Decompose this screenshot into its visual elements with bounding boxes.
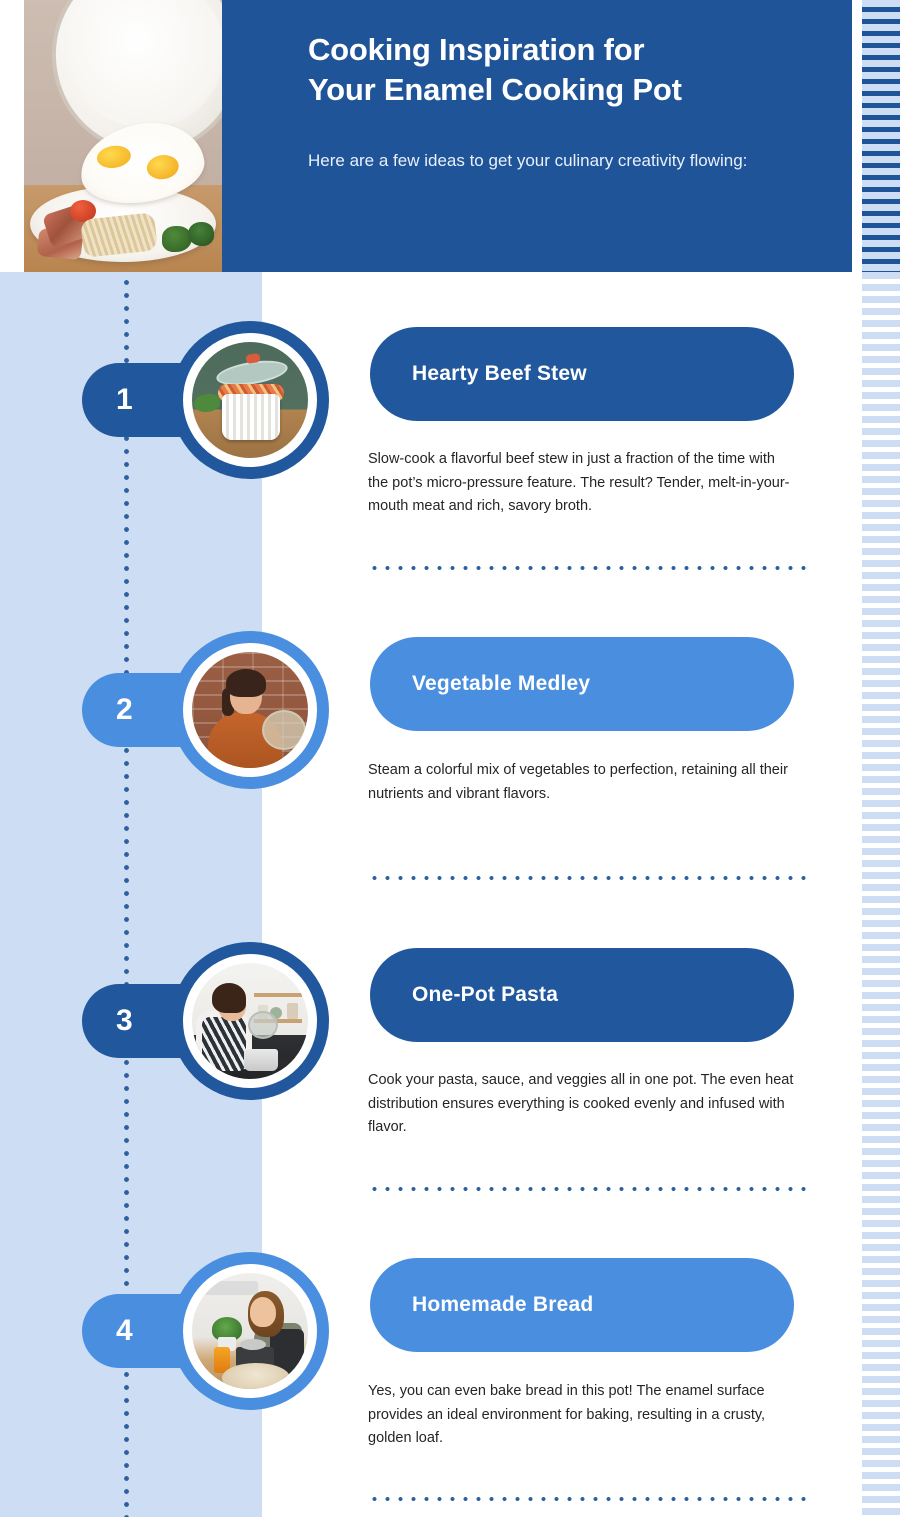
step-body-1: Slow-cook a flavorful beef stew in just …	[368, 448, 796, 519]
stripe-pattern-bottom	[862, 272, 900, 1517]
step-separator-1	[368, 566, 808, 570]
step-separator-4	[368, 1497, 808, 1501]
step-photo-4	[192, 1273, 308, 1389]
step-number-4: 4	[116, 1316, 133, 1346]
step-separator-2	[368, 876, 808, 880]
stripe-pattern-top	[862, 0, 900, 272]
step-number-2: 2	[116, 695, 133, 725]
step-photo-circle-4	[171, 1252, 329, 1410]
photo3-glass-lid	[248, 1011, 278, 1039]
photo4-pan	[240, 1339, 266, 1350]
step-body-2: Steam a colorful mix of vegetables to pe…	[368, 759, 796, 806]
step-title-1: Hearty Beef Stew	[412, 362, 587, 386]
step-photo-1	[192, 342, 308, 458]
step-title-pill-1[interactable]: Hearty Beef Stew	[370, 327, 794, 421]
header-subtitle: Here are a few ideas to get your culinar…	[308, 148, 748, 174]
photo4-plate	[222, 1363, 290, 1389]
step-photo-white-ring-3	[183, 954, 317, 1088]
infographic-page: Cooking Inspiration for Your Enamel Cook…	[0, 0, 900, 1517]
photo4-face	[250, 1297, 276, 1327]
step-title-2: Vegetable Medley	[412, 672, 590, 696]
header-title: Cooking Inspiration for Your Enamel Cook…	[308, 30, 808, 111]
header-photo-pan-interior	[55, 0, 222, 142]
photo3-jar-3	[287, 1003, 298, 1019]
step-photo-white-ring-2	[183, 643, 317, 777]
step-title-3: One-Pot Pasta	[412, 983, 558, 1007]
step-separator-3	[368, 1187, 808, 1191]
photo3-hair	[212, 983, 246, 1013]
photo1-ribbed-pot	[222, 394, 280, 440]
step-photo-white-ring-1	[183, 333, 317, 467]
header-photo-broccoli-2	[188, 222, 214, 246]
step-number-1: 1	[116, 385, 133, 415]
step-title-pill-4[interactable]: Homemade Bread	[370, 1258, 794, 1352]
photo3-frying-pan	[276, 1057, 306, 1069]
step-title-pill-2[interactable]: Vegetable Medley	[370, 637, 794, 731]
header-title-line-1: Cooking Inspiration for	[308, 30, 808, 70]
photo3-pot	[244, 1049, 278, 1071]
header-photo-noodles	[80, 212, 158, 258]
header-photo	[24, 0, 222, 272]
step-body-3: Cook your pasta, sauce, and veggies all …	[368, 1069, 796, 1140]
step-photo-2	[192, 652, 308, 768]
step-photo-circle-1	[171, 321, 329, 479]
step-number-3: 3	[116, 1006, 133, 1036]
step-photo-white-ring-4	[183, 1264, 317, 1398]
step-title-pill-3[interactable]: One-Pot Pasta	[370, 948, 794, 1042]
photo3-striped-apron	[202, 1017, 246, 1071]
photo4-range-hood	[202, 1281, 258, 1295]
header-photo-yolk-2	[145, 153, 180, 181]
photo2-hair	[226, 669, 266, 697]
header-title-line-2: Your Enamel Cooking Pot	[308, 70, 808, 110]
step-body-4: Yes, you can even bake bread in this pot…	[368, 1380, 796, 1451]
photo1-herb-leaf	[194, 394, 220, 412]
step-photo-circle-2	[171, 631, 329, 789]
photo3-shelf-top	[254, 993, 302, 997]
step-photo-circle-3	[171, 942, 329, 1100]
step-photo-3	[192, 963, 308, 1079]
photo2-glass-lid	[262, 710, 306, 750]
step-title-4: Homemade Bread	[412, 1293, 593, 1317]
header-photo-yolk-1	[96, 144, 133, 171]
